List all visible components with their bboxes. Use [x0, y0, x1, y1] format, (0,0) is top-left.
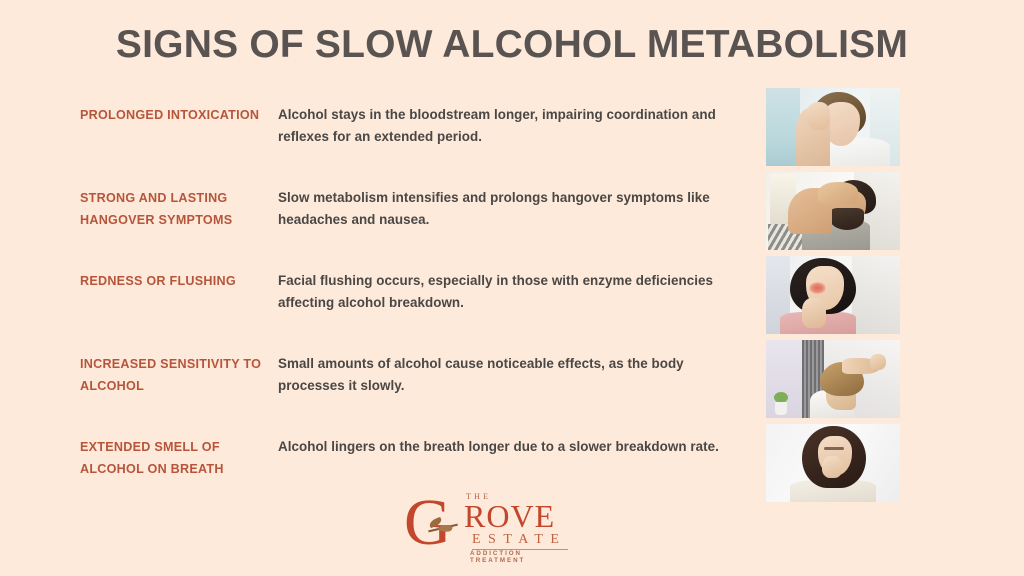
- logo-word-estate: ESTATE: [472, 532, 566, 548]
- sign-description-prolonged-intoxication: Alcohol stays in the bloodstream longer,…: [278, 103, 730, 147]
- photo-figure-hand: [802, 298, 826, 328]
- photo-woman-leaning-wall: [766, 340, 900, 418]
- sign-description-increased-sensitivity: Small amounts of alcohol cause noticeabl…: [278, 352, 730, 396]
- sign-label-redness-or-flushing: REDNESS OR FLUSHING: [80, 269, 278, 293]
- photo-man-holding-head: [766, 172, 900, 250]
- sign-label-prolonged-intoxication: PROLONGED INTOXICATION: [80, 103, 278, 127]
- photo-figure-hand: [822, 456, 842, 478]
- logo-word-rove: ROVE: [464, 500, 555, 532]
- list-item: REDNESS OR FLUSHING Facial flushing occu…: [80, 269, 730, 352]
- sign-label-increased-sensitivity: INCREASED SENSITIVITY TO ALCOHOL: [80, 352, 278, 397]
- photo-figure-hand: [806, 102, 830, 130]
- photo-background-left: [766, 88, 800, 166]
- photo-figure-arm-right: [818, 182, 858, 204]
- sign-description-extended-smell: Alcohol lingers on the breath longer due…: [278, 435, 730, 458]
- sign-label-extended-smell: EXTENDED SMELL OF ALCOHOL ON BREATH: [80, 435, 278, 480]
- photo-figure-flushed-cheek: [809, 282, 826, 294]
- list-item: PROLONGED INTOXICATION Alcohol stays in …: [80, 103, 730, 186]
- photo-figure-hand: [870, 354, 886, 370]
- sign-description-redness-or-flushing: Facial flushing occurs, especially in th…: [278, 269, 730, 313]
- list-item: STRONG AND LASTING HANGOVER SYMPTOMS Slo…: [80, 186, 730, 269]
- list-item: INCREASED SENSITIVITY TO ALCOHOL Small a…: [80, 352, 730, 435]
- logo-tagline: ADDICTION TREATMENT: [470, 550, 578, 564]
- photo-woman-flushed-cheek: [766, 256, 900, 334]
- sign-description-hangover-symptoms: Slow metabolism intensifies and prolongs…: [278, 186, 730, 230]
- photo-figure-brow: [824, 447, 844, 450]
- photo-background-wall: [852, 256, 900, 334]
- infographic-canvas: SIGNS OF SLOW ALCOHOL METABOLISM PROLONG…: [0, 0, 1024, 576]
- leaf-icon: [426, 516, 460, 534]
- brand-logo: G THE ROVE ESTATE ADDICTION TREATMENT: [398, 488, 578, 558]
- photo-background-plant: [772, 392, 790, 416]
- photo-column: [766, 88, 900, 508]
- photo-woman-head-in-hand: [766, 88, 900, 166]
- photo-figure-beard: [830, 208, 864, 230]
- sign-label-hangover-symptoms: STRONG AND LASTING HANGOVER SYMPTOMS: [80, 186, 278, 231]
- page-title: SIGNS OF SLOW ALCOHOL METABOLISM: [0, 24, 1024, 67]
- signs-list: PROLONGED INTOXICATION Alcohol stays in …: [80, 103, 730, 518]
- photo-woman-pinching-nose: [766, 424, 900, 502]
